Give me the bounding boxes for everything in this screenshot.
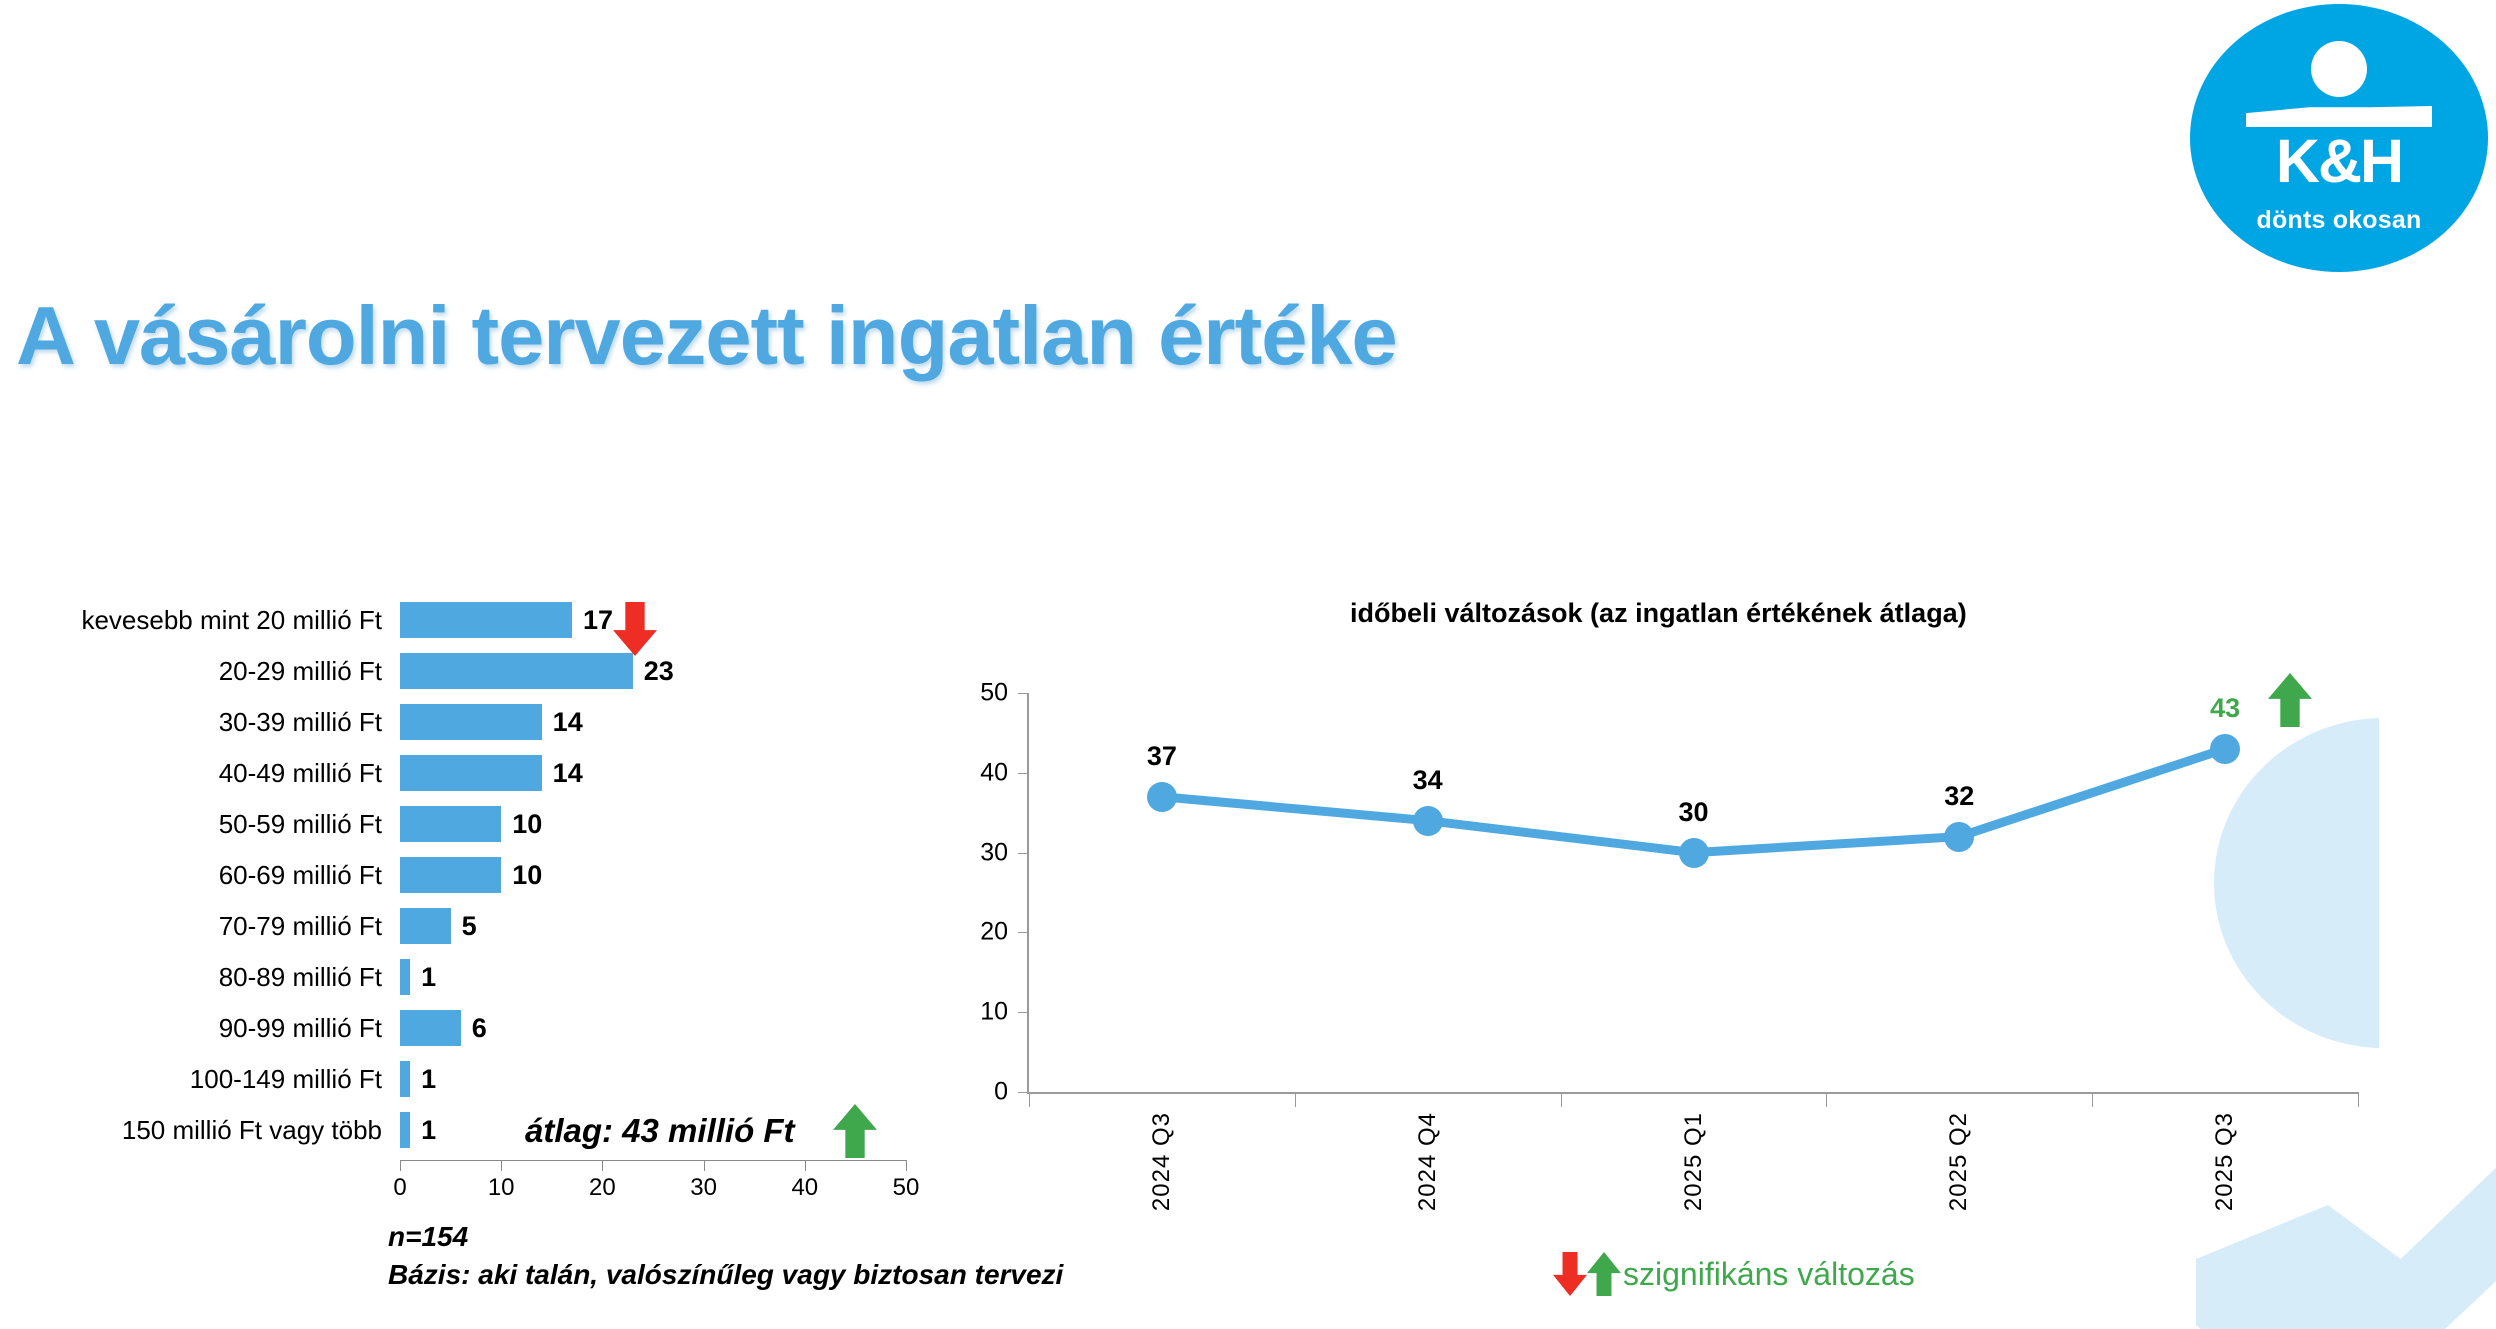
legend-red-down-arrow-icon xyxy=(1553,1252,1587,1296)
line-data-label: 30 xyxy=(1678,797,1708,828)
line-data-label: 32 xyxy=(1944,781,1974,812)
legend-label: szignifikáns változás xyxy=(1623,1256,1915,1293)
line-data-point xyxy=(1413,806,1443,836)
line-data-label: 34 xyxy=(1413,765,1443,796)
line-data-label: 43 xyxy=(2210,693,2240,724)
line-data-point xyxy=(1944,822,1974,852)
legend: szignifikáns változás xyxy=(1553,1252,1915,1296)
line-data-label: 37 xyxy=(1147,741,1177,772)
line-series-path xyxy=(0,0,2496,1329)
line-data-point xyxy=(2210,734,2240,764)
legend-green-up-arrow-icon xyxy=(1587,1252,1621,1296)
line-data-point xyxy=(1679,838,1709,868)
slide-canvas: K&H dönts okosan A vásárolni tervezett i… xyxy=(0,0,2496,1329)
line-data-point xyxy=(1147,782,1177,812)
green-up-arrow-icon xyxy=(2268,673,2312,727)
